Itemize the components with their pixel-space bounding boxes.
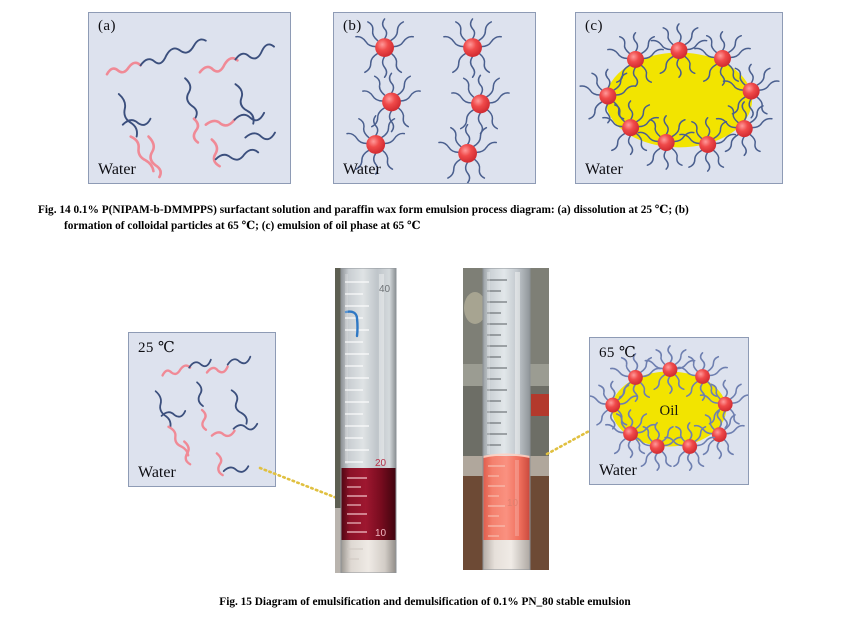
fig14-panel-c: (c) Water <box>575 12 783 184</box>
grad-label-40: 40 <box>379 284 391 295</box>
fig14-panel-a-tag: (a) <box>98 18 116 35</box>
fig14-caption-line1: Fig. 14 0.1% P(NIPAM-b-DMMPPS) surfactan… <box>38 204 689 216</box>
fig14-panel-a-graphic <box>89 13 290 183</box>
fig14-panel-b-medium-label: Water <box>343 161 381 179</box>
fig14-panel-b: (b) Water <box>333 12 536 184</box>
fig15-right-temperature-label: 65 ℃ <box>599 343 636 362</box>
photo-demulsified-cylinder: 40 20 10 <box>335 268 400 573</box>
fig14-panel-b-tag: (b) <box>343 18 362 35</box>
grad-label-10: 10 <box>375 528 387 539</box>
fig14-panel-c-graphic <box>576 13 782 183</box>
photo-demulsified-graphic: 40 20 10 <box>335 268 400 573</box>
connector-right <box>545 424 593 462</box>
fig14-panel-a: (a) Water <box>88 12 291 184</box>
fig15-left-medium-label: Water <box>138 464 176 482</box>
grad-label-10: 10 <box>507 498 519 509</box>
fig15-caption: Fig. 15 Diagram of emulsification and de… <box>0 596 850 608</box>
fig15-left-panel: 25 ℃ Water <box>128 332 276 487</box>
fig15-left-temperature-label: 25 ℃ <box>138 338 175 357</box>
fig15-droplet-label: Oil <box>660 403 679 419</box>
fig14-panel-a-medium-label: Water <box>98 161 136 179</box>
fig15-right-medium-label: Water <box>599 462 637 480</box>
fig15-caption-text: Fig. 15 Diagram of emulsification and de… <box>219 596 630 608</box>
fig14-caption-line2: formation of colloidal particles at 65 ℃… <box>38 219 816 235</box>
fig14-panel-c-medium-label: Water <box>585 161 623 179</box>
fig14-caption: Fig. 14 0.1% P(NIPAM-b-DMMPPS) surfactan… <box>38 203 816 234</box>
fig14-panel-c-tag: (c) <box>585 18 603 35</box>
fig15-right-panel: Oil 65 ℃ Water <box>589 337 749 485</box>
photo-emulsion-graphic: 10 <box>463 268 549 570</box>
grad-label-20: 20 <box>375 458 387 469</box>
fig14-panel-b-graphic <box>334 13 535 183</box>
photo-stable-emulsion-cylinder: 10 <box>463 268 549 570</box>
